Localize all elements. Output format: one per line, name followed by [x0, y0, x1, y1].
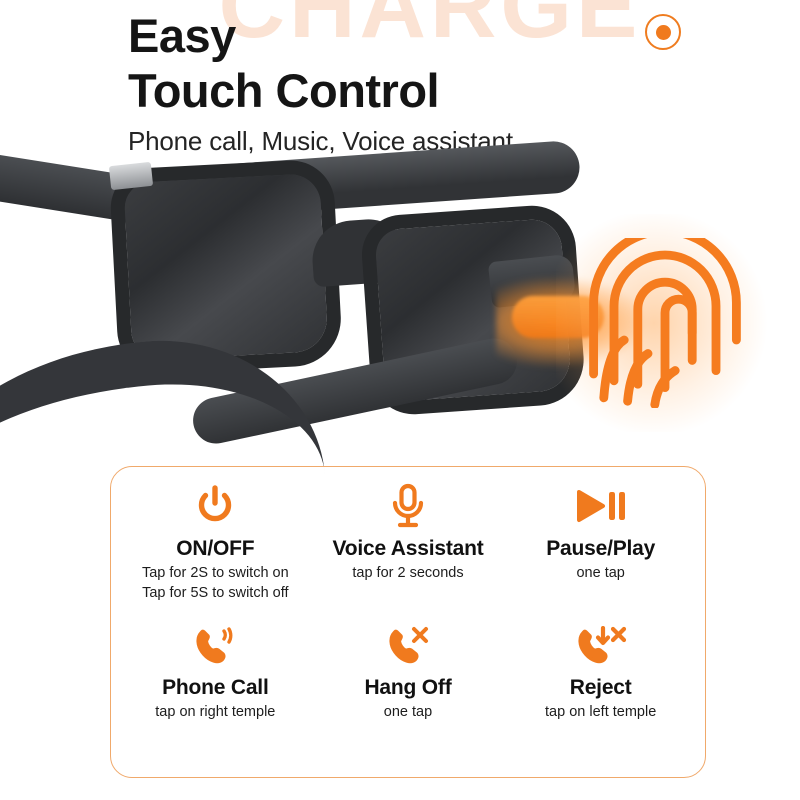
feature-description-line-1: one tap [384, 703, 432, 723]
feature-title: Pause/Play [546, 537, 655, 561]
touch-control-feature-card: ON/OFF Tap for 2S to switch on Tap for 5… [110, 466, 706, 778]
feature-description-line-1: Tap for 2S to switch on [142, 564, 289, 584]
page-title-line-2: Touch Control [128, 63, 439, 118]
feature-item-phone-call[interactable]: Phone Call tap on right temple [119, 624, 312, 767]
fingerprint-touch-graphic [580, 238, 750, 408]
touch-point-indicator-icon [645, 14, 681, 50]
phone-reject-icon [574, 624, 628, 670]
page-title: Easy Touch Control [128, 8, 439, 119]
feature-item-pause-play[interactable]: Pause/Play one tap [504, 481, 697, 624]
feature-item-hang-off[interactable]: Hang Off one tap [312, 624, 505, 767]
sunglasses-left-lens [123, 173, 328, 361]
feature-description-line-1: tap on right temple [155, 703, 275, 723]
feature-description-line-2: Tap for 5S to switch off [142, 584, 288, 604]
page-title-line-1: Easy [128, 9, 236, 62]
feature-item-voice-assistant[interactable]: Voice Assistant tap for 2 seconds [312, 481, 505, 624]
play-pause-icon [576, 481, 626, 531]
feature-title: Phone Call [162, 676, 269, 700]
sunglasses-hinge-plate [109, 162, 153, 190]
feature-title: Voice Assistant [332, 537, 483, 561]
feature-description-line-1: tap for 2 seconds [352, 564, 463, 584]
feature-title: Reject [570, 676, 632, 700]
feature-description-line-1: tap on left temple [545, 703, 656, 723]
feature-description-line-1: one tap [576, 564, 624, 584]
phone-call-icon [192, 624, 238, 670]
feature-title: ON/OFF [176, 537, 254, 561]
feature-title: Hang Off [364, 676, 451, 700]
microphone-icon [389, 481, 427, 531]
feature-item-on-off[interactable]: ON/OFF Tap for 2S to switch on Tap for 5… [119, 481, 312, 624]
power-icon [195, 481, 235, 531]
product-feature-infographic: CHARGE Easy Touch Control Phone call, Mu… [0, 0, 800, 800]
phone-hangup-icon [385, 624, 431, 670]
feature-item-reject[interactable]: Reject tap on left temple [504, 624, 697, 767]
feature-grid: ON/OFF Tap for 2S to switch on Tap for 5… [111, 467, 705, 777]
